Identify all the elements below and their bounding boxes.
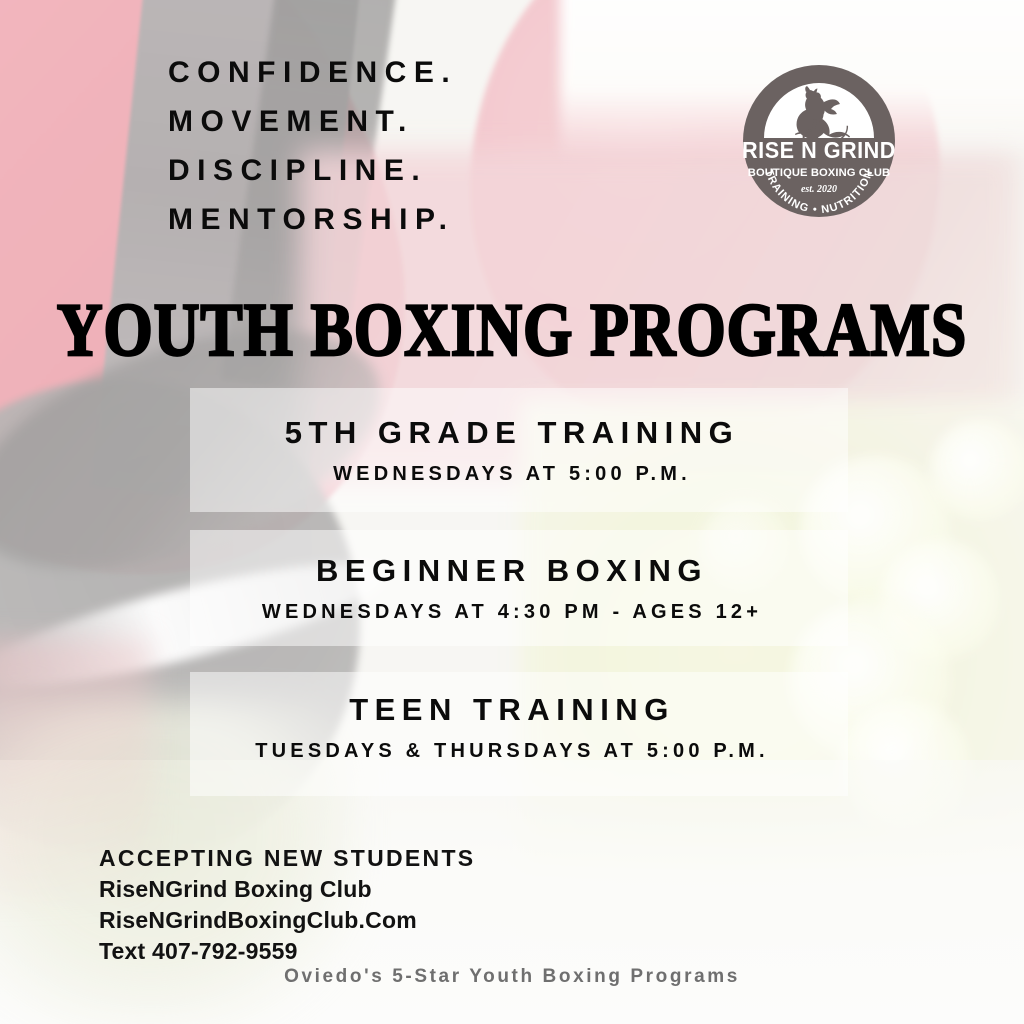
program-title: BEGINNER BOXING xyxy=(0,553,1024,589)
program-item-beginner-boxing: BEGINNER BOXING WEDNESDAYS AT 4:30 PM - … xyxy=(0,553,1024,624)
website-link[interactable]: RiseNGrindBoxingClub.Com xyxy=(99,905,475,936)
accepting-new-students-heading: ACCEPTING NEW STUDENTS xyxy=(99,843,475,874)
program-item-5th-grade: 5TH GRADE TRAINING WEDNESDAYS AT 5:00 P.… xyxy=(0,415,1024,486)
poster-canvas: CONFIDENCE. MOVEMENT. DISCIPLINE. MENTOR… xyxy=(0,0,1024,1024)
logo-brand-text: RISE N GRIND xyxy=(742,137,896,163)
program-item-teen-training: TEEN TRAINING TUESDAYS & THURSDAYS AT 5:… xyxy=(0,692,1024,763)
headline-block: CONFIDENCE. MOVEMENT. DISCIPLINE. MENTOR… xyxy=(168,48,728,244)
program-title: TEEN TRAINING xyxy=(0,692,1024,728)
headline-line-2: MOVEMENT. xyxy=(168,97,728,146)
business-name: RiseNGrind Boxing Club xyxy=(99,874,475,905)
headline-line-1: CONFIDENCE. xyxy=(168,48,728,97)
logo-established-text: est. 2020 xyxy=(801,184,837,195)
headline-line-4: MENTORSHIP. xyxy=(168,195,728,244)
contact-block: ACCEPTING NEW STUDENTS RiseNGrind Boxing… xyxy=(99,843,475,967)
page-title: YOUTH BOXING PROGRAMS xyxy=(0,288,1024,375)
logo-badge: RISE N GRIND BOUTIQUE BOXING CLUB est. 2… xyxy=(740,62,898,220)
program-schedule: TUESDAYS & THURSDAYS AT 5:00 P.M. xyxy=(0,740,1024,763)
phone-number[interactable]: Text 407-792-9559 xyxy=(99,936,475,967)
program-schedule: WEDNESDAYS AT 5:00 P.M. xyxy=(0,463,1024,486)
footer-tagline: Oviedo's 5-Star Youth Boxing Programs xyxy=(0,966,1024,988)
program-title: 5TH GRADE TRAINING xyxy=(0,415,1024,451)
headline-line-3: DISCIPLINE. xyxy=(168,146,728,195)
program-schedule: WEDNESDAYS AT 4:30 PM - AGES 12+ xyxy=(0,601,1024,624)
